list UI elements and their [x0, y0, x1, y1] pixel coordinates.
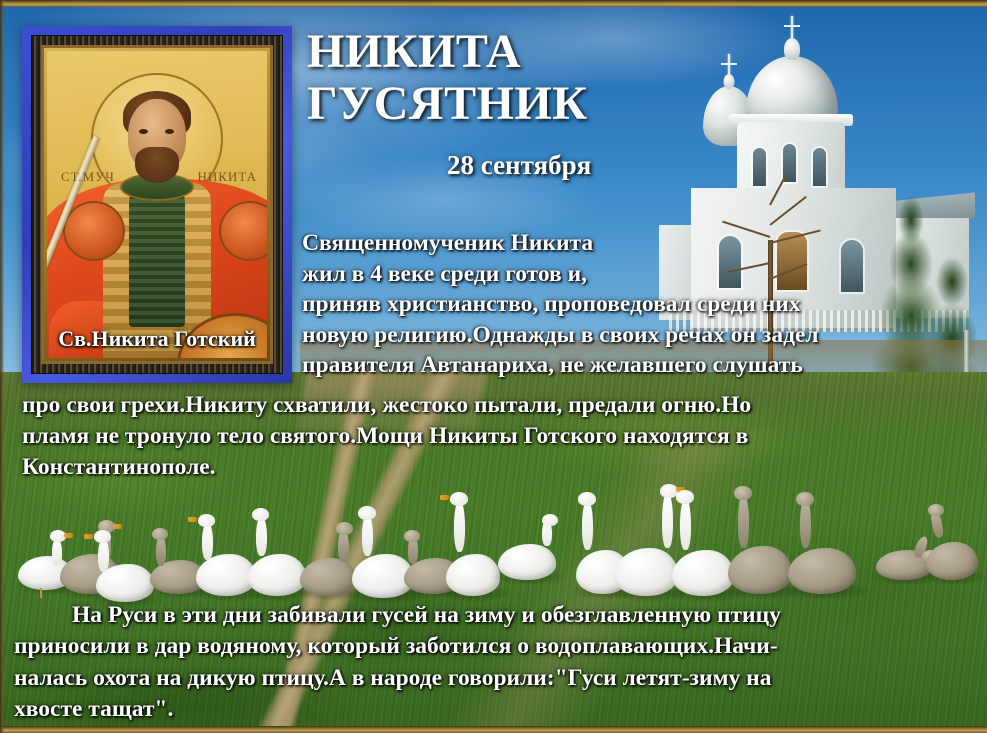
goose-head	[796, 492, 814, 506]
goose-head	[734, 486, 752, 500]
goose-body	[926, 542, 978, 580]
goose-beak-icon	[113, 524, 122, 529]
goose	[498, 514, 564, 580]
church-window	[753, 148, 766, 186]
goose-neck	[202, 522, 213, 560]
goose-neck	[680, 498, 691, 550]
goose-head	[94, 530, 111, 543]
paragraph-saint-life-continued: про свои грехи.Никиту схватили, жестоко …	[22, 390, 972, 483]
page-title: НИКИТА ГУСЯТНИК	[307, 26, 588, 130]
border-top	[0, 0, 987, 7]
tree-branch	[769, 196, 806, 226]
goose-head	[578, 492, 596, 506]
goose-neck	[98, 538, 109, 572]
goose-head	[198, 514, 215, 527]
saint-eye-left	[139, 129, 148, 134]
saint-shoulder-left	[63, 201, 125, 261]
saint-beard	[135, 147, 179, 183]
goose-head	[404, 530, 420, 542]
goose-leg	[40, 588, 42, 598]
goose-neck	[156, 536, 166, 566]
goose-beak-icon	[188, 517, 197, 522]
feast-date: 28 сентября	[447, 150, 591, 181]
saint-nikita-icon-artwork: СТ.МУЧ НИКИТА Св.Никита Готский	[47, 51, 267, 358]
goose-head	[928, 504, 944, 516]
goose-body	[498, 544, 556, 580]
icon-caption: Св.Никита Готский	[47, 328, 267, 350]
goose-neck	[454, 500, 465, 552]
goose-head	[358, 506, 376, 520]
icon-inscription-left: СТ.МУЧ	[61, 169, 115, 185]
paragraph-folk-tradition: На Руси в эти дни забивали гусей на зиму…	[14, 600, 976, 725]
border-bottom	[0, 726, 987, 733]
goose-head	[450, 492, 468, 506]
goose-head	[336, 522, 353, 535]
icon-ornamental-border: СТ.МУЧ НИКИТА Св.Никита Готский	[31, 35, 283, 374]
goose-head	[542, 514, 558, 526]
church-window	[813, 148, 826, 186]
goose-neck	[256, 516, 267, 556]
goose	[788, 498, 864, 594]
goose-head	[152, 528, 168, 540]
saint-icon-frame: СТ.МУЧ НИКИТА Св.Никита Готский	[22, 26, 292, 383]
goose-neck	[738, 494, 749, 548]
goose	[926, 506, 984, 580]
goose-neck	[362, 514, 373, 556]
slide-canvas: СТ.МУЧ НИКИТА Св.Никита Готский НИКИТА Г…	[0, 0, 987, 733]
goose-beak-icon	[84, 534, 93, 539]
goose-head	[676, 490, 694, 504]
goose-neck	[582, 500, 593, 550]
icon-inscription-right: НИКИТА	[197, 169, 257, 185]
goose-beak-icon	[440, 495, 449, 500]
icon-gold-border: СТ.МУЧ НИКИТА Св.Никита Готский	[41, 45, 273, 364]
goose-head	[252, 508, 269, 521]
paragraph-saint-life-top: Священномученик Никита жил в 4 веке сред…	[302, 228, 974, 381]
saint-eye-right	[165, 129, 174, 134]
goose-body	[788, 548, 856, 594]
border-left	[0, 0, 4, 733]
